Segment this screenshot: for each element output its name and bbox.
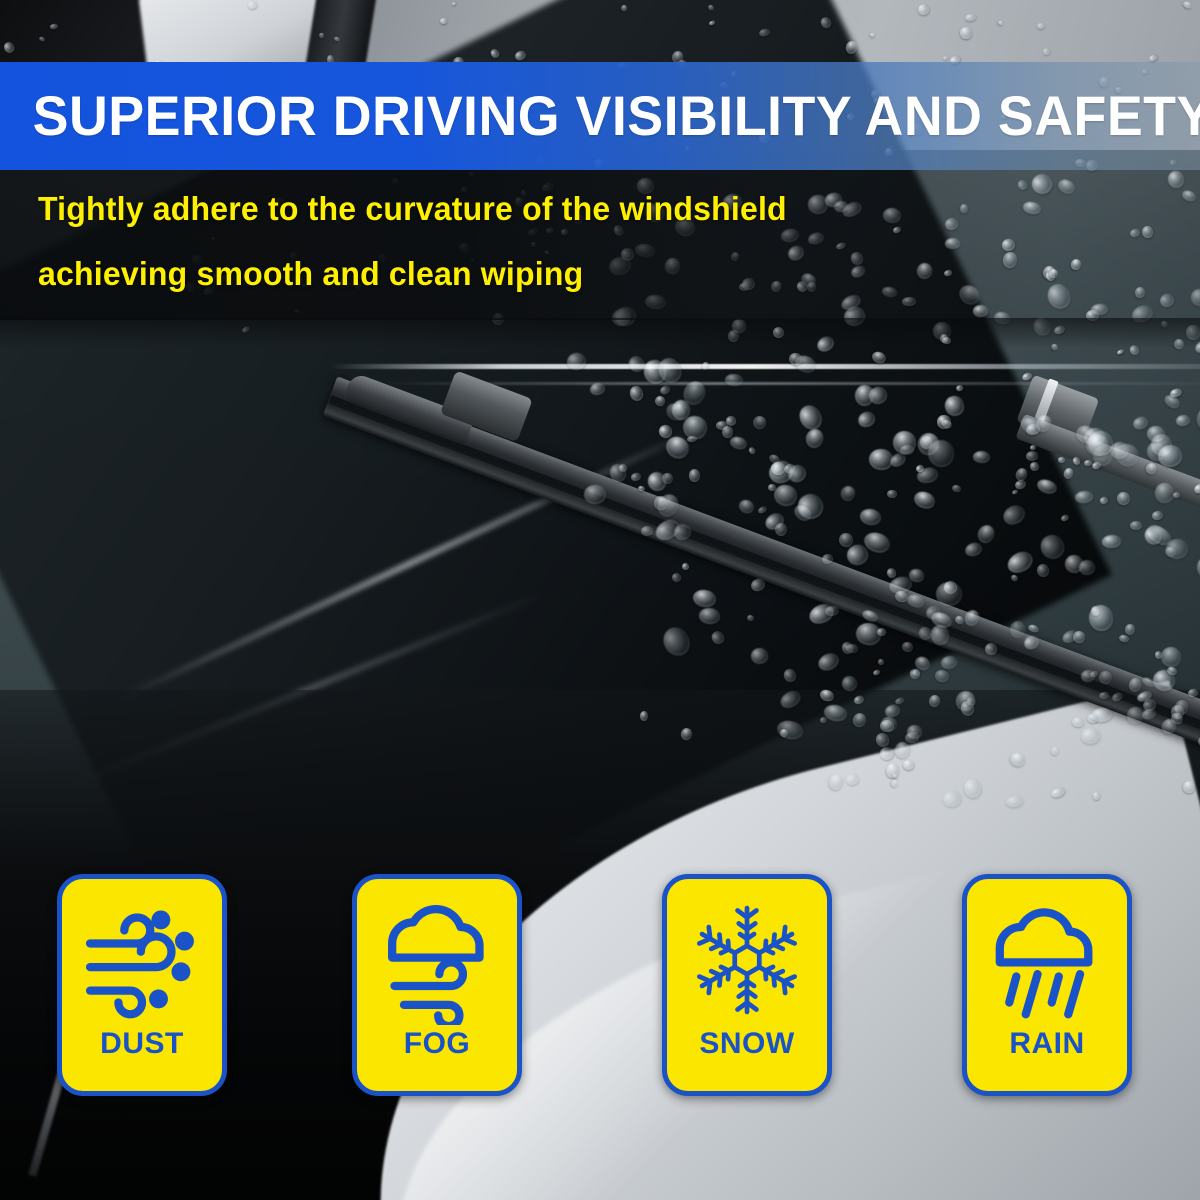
- product-marketing-image: SUPERIOR DRIVING VISIBILITY AND SAFETY T…: [0, 0, 1200, 1200]
- cloud-rain-icon: [988, 895, 1106, 1025]
- badge-label-dust: DUST: [100, 1029, 184, 1059]
- badge-label-snow: SNOW: [699, 1029, 794, 1059]
- badge-label-rain: RAIN: [1009, 1029, 1084, 1059]
- snowflake-icon: [688, 895, 806, 1025]
- subtitle-line-2: achieving smooth and clean wiping: [38, 257, 1008, 290]
- feature-badge-rain[interactable]: RAIN: [962, 874, 1132, 1096]
- subtitle-line-1: Tightly adhere to the curvature of the w…: [38, 192, 1008, 225]
- headline-title: SUPERIOR DRIVING VISIBILITY AND SAFETY: [0, 88, 1200, 144]
- feature-badge-row: DUST FOG: [0, 874, 1200, 1098]
- feature-badge-fog[interactable]: FOG: [352, 874, 522, 1096]
- badge-label-fog: FOG: [404, 1029, 471, 1059]
- subtitle-block: Tightly adhere to the curvature of the w…: [38, 192, 1038, 322]
- headline-banner: SUPERIOR DRIVING VISIBILITY AND SAFETY: [0, 62, 1200, 170]
- feature-badge-dust[interactable]: DUST: [57, 874, 227, 1096]
- feature-badge-snow[interactable]: SNOW: [662, 874, 832, 1096]
- wind-dust-icon: [83, 895, 201, 1025]
- cloud-fog-icon: [378, 895, 496, 1025]
